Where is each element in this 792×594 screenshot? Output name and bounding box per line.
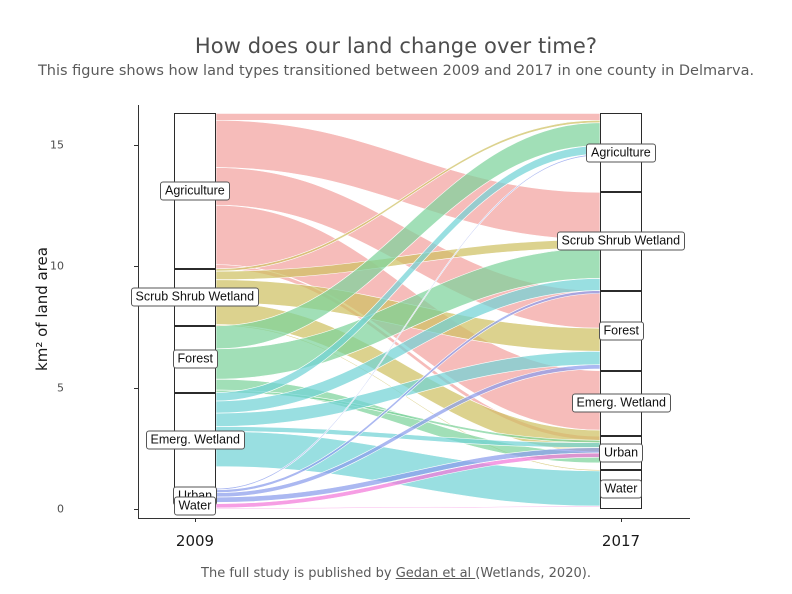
y-tick-label: 15 <box>34 139 64 152</box>
y-axis-label: km² of land area <box>33 179 51 439</box>
x-tick-label: 2017 <box>602 532 640 550</box>
node-label-2017-emerg-wetland: Emerg. Wetland <box>572 394 671 413</box>
y-tick-label: 10 <box>34 260 64 273</box>
caption-suffix: (Wetlands, 2020). <box>475 566 591 581</box>
node-label-2009-forest: Forest <box>173 350 218 369</box>
alluvium-flow <box>216 453 600 508</box>
node-label-2009-scrub-shrub-wetland: Scrub Shrub Wetland <box>131 288 260 307</box>
alluvium-flow <box>216 390 600 443</box>
figure-canvas: How does our land change over time? This… <box>0 0 792 594</box>
alluvium-flow <box>216 506 600 509</box>
alluvium-flow <box>216 448 600 503</box>
alluvium-flow <box>216 303 600 452</box>
alluvial-flows <box>0 0 792 594</box>
alluvium-flow <box>216 146 600 401</box>
alluvium-flow <box>216 278 600 413</box>
node-label-2017-forest: Forest <box>599 321 644 340</box>
alluvium-flow <box>216 365 600 497</box>
caption-prefix: The full study is published by <box>201 566 396 581</box>
alluvium-flow <box>216 325 600 471</box>
alluvium-flow <box>216 205 600 430</box>
page-title: How does our land change over time? <box>0 34 792 58</box>
alluvium-flow <box>216 120 600 239</box>
figure-caption: The full study is published by Gedan et … <box>0 566 792 581</box>
alluvium-flow <box>216 248 600 379</box>
y-tick-mark <box>134 388 138 389</box>
alluvium-flow <box>216 240 600 280</box>
y-tick-mark <box>134 266 138 267</box>
alluvium-flow <box>216 426 600 447</box>
node-label-2017-water: Water <box>600 480 643 499</box>
alluvium-flow <box>216 291 600 493</box>
x-tick-mark <box>621 518 622 522</box>
x-tick-label: 2009 <box>176 532 214 550</box>
node-label-2009-agriculture: Agriculture <box>160 182 230 201</box>
alluvium-flow <box>216 120 600 271</box>
alluvium-flow <box>216 379 600 463</box>
alluvium-flow <box>216 280 600 352</box>
x-tick-mark <box>195 518 196 522</box>
node-label-2017-agriculture: Agriculture <box>586 143 656 162</box>
node-label-2017-urban: Urban <box>599 443 643 462</box>
y-tick-mark <box>134 509 138 510</box>
caption-link[interactable]: Gedan et al <box>396 566 476 581</box>
y-tick-mark <box>134 145 138 146</box>
alluvium-flow <box>216 123 600 349</box>
node-label-2009-water: Water <box>174 497 217 516</box>
y-tick-label: 5 <box>34 381 64 394</box>
alluvium-flow <box>216 431 600 506</box>
alluvium-flow <box>216 113 600 120</box>
alluvium-flow <box>216 351 600 426</box>
alluvium-flow <box>216 265 600 441</box>
node-label-2017-scrub-shrub-wetland: Scrub Shrub Wetland <box>557 232 686 251</box>
x-axis-line <box>138 518 690 519</box>
y-tick-label: 0 <box>34 503 64 516</box>
alluvium-flow <box>216 154 600 490</box>
node-label-2009-emerg-wetland: Emerg. Wetland <box>146 431 245 450</box>
alluvium-flow <box>216 168 600 329</box>
page-subtitle: This figure shows how land types transit… <box>0 63 792 79</box>
y-axis-line <box>138 105 139 518</box>
